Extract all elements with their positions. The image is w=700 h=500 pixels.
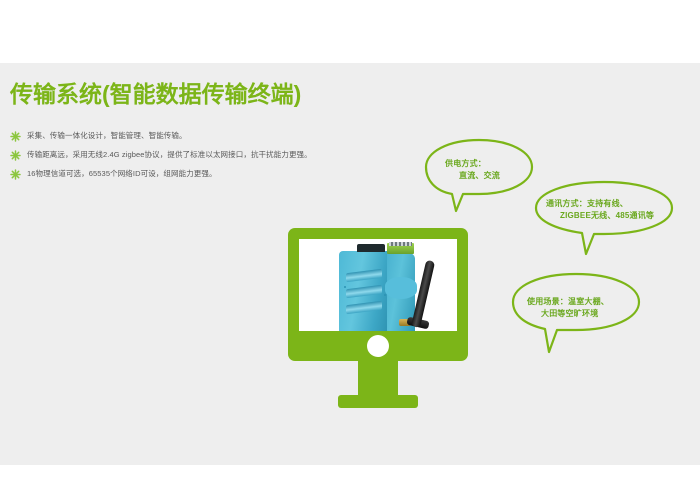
star-bullet-icon	[10, 131, 21, 142]
device-waist	[385, 277, 417, 299]
callout-line-1: 使用场景：温室大棚、	[527, 296, 609, 308]
callout-text-power: 供电方式： 直流、交流	[445, 158, 500, 182]
star-bullet-icon	[10, 169, 21, 180]
monitor-screen	[299, 239, 457, 331]
feature-item: 传输距离远，采用无线2.4G zigbee协议，提供了标准以太网接口，抗干扰能力…	[10, 149, 430, 161]
device-screw	[344, 286, 346, 288]
product-infographic-page: 传输系统(智能数据传输终端) 采集、传输一体化设计，智能管理、智能传输。	[0, 0, 700, 500]
device-db9-connector	[357, 244, 385, 252]
monitor-base	[338, 395, 418, 408]
data-transmission-terminal-photo	[299, 239, 457, 331]
callout-text-communication: 通讯方式：支持有线、 ZIGBEE无线、485通讯等	[546, 198, 654, 222]
computer-monitor-graphic	[288, 228, 468, 413]
callout-bubble-scene: 使用场景：温室大棚、 大田等空旷环境	[505, 268, 647, 356]
feature-item: 采集、传输一体化设计，智能管理、智能传输。	[10, 130, 430, 142]
monitor-neck	[358, 361, 398, 395]
callout-line-2: 直流、交流	[445, 170, 500, 182]
device-screw	[384, 294, 386, 296]
monitor-stand-hinge	[367, 335, 389, 357]
star-bullet-icon	[10, 150, 21, 161]
feature-text: 传输距离远，采用无线2.4G zigbee协议，提供了标准以太网接口，抗干扰能力…	[27, 149, 312, 160]
callout-text-scene: 使用场景：温室大棚、 大田等空旷环境	[527, 296, 609, 320]
feature-list: 采集、传输一体化设计，智能管理、智能传输。 传输距离远，采用无线2.4G zig…	[10, 130, 430, 187]
callout-line-1: 通讯方式：支持有线、	[546, 198, 654, 210]
device-terminal-pins	[389, 242, 412, 246]
callout-line-2: 大田等空旷环境	[527, 308, 609, 320]
feature-item: 16物理信道可选，65535个网络ID可设，组网能力更强。	[10, 168, 430, 180]
callout-bubble-communication: 通讯方式：支持有线、 ZIGBEE无线、485通讯等	[528, 178, 680, 258]
callout-line-2: ZIGBEE无线、485通讯等	[546, 210, 654, 222]
feature-text: 16物理信道可选，65535个网络ID可设，组网能力更强。	[27, 168, 217, 179]
page-title: 传输系统(智能数据传输终端)	[10, 80, 301, 108]
feature-text: 采集、传输一体化设计，智能管理、智能传输。	[27, 130, 187, 141]
callout-bubble-power: 供电方式： 直流、交流	[418, 136, 540, 216]
callout-line-1: 供电方式：	[445, 158, 500, 170]
monitor-frame	[288, 228, 468, 361]
